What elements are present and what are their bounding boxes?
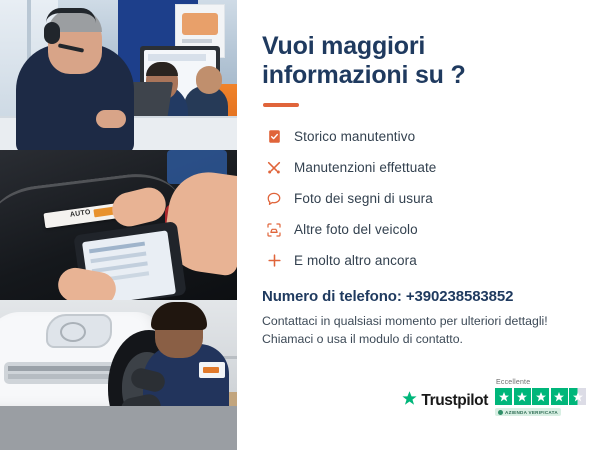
- list-item: Storico manutentivo: [263, 123, 588, 150]
- accent-divider: [263, 103, 299, 107]
- feature-list: Storico manutentivo Manutenzioni effettu…: [263, 123, 588, 274]
- speech-bubble-icon: [263, 188, 285, 210]
- tools-icon: [263, 157, 285, 179]
- star-icon: [532, 388, 549, 405]
- trustpilot-score: Eccellente AZIENDA VERIFICATA: [495, 379, 586, 416]
- phone-number: Numero di telefono: +390238583852: [262, 288, 588, 305]
- list-item: Altre foto del veicolo: [263, 216, 588, 243]
- list-item: Manutenzioni effettuate: [263, 154, 588, 181]
- photo-column: [0, 0, 237, 450]
- checklist-icon: [263, 126, 285, 148]
- plus-icon: [263, 250, 285, 272]
- photo-vehicle-inspection: [0, 150, 237, 300]
- verified-check-icon: [498, 410, 503, 415]
- contact-description: Contattaci in qualsiasi momento per ulte…: [262, 313, 588, 349]
- photo-call-center: [0, 0, 237, 150]
- content-panel: Vuoi maggiori informazioni su ? Storico …: [237, 0, 600, 450]
- photo-wheel-check: [0, 300, 237, 450]
- verified-label: AZIENDA VERIFICATA: [505, 410, 558, 415]
- trustpilot-wordmark: Trustpilot: [421, 392, 488, 410]
- list-item-label: Altre foto del veicolo: [294, 222, 418, 237]
- star-icon: [495, 388, 512, 405]
- trustpilot-star-icon: [401, 390, 418, 412]
- star-icon-half: [569, 388, 586, 405]
- star-icon: [551, 388, 568, 405]
- promo-banner: Vuoi maggiori informazioni su ? Storico …: [0, 0, 600, 450]
- page-title: Vuoi maggiori informazioni su ?: [262, 32, 477, 90]
- list-item: Foto dei segni di usura: [263, 185, 588, 212]
- verified-badge: AZIENDA VERIFICATA: [495, 408, 561, 416]
- list-item-label: Storico manutentivo: [294, 129, 415, 144]
- star-icon: [514, 388, 531, 405]
- list-item-label: Manutenzioni effettuate: [294, 160, 436, 175]
- rating-label: Eccellente: [496, 379, 530, 386]
- trustpilot-rating: Trustpilot Eccellente AZIENDA VERIFICATA: [401, 379, 586, 416]
- trustpilot-logo: Trustpilot: [401, 390, 488, 416]
- list-item: E molto altro ancora: [263, 247, 588, 274]
- star-rating: [495, 388, 586, 405]
- car-scan-icon: [263, 219, 285, 241]
- list-item-label: Foto dei segni di usura: [294, 191, 433, 206]
- list-item-label: E molto altro ancora: [294, 253, 417, 268]
